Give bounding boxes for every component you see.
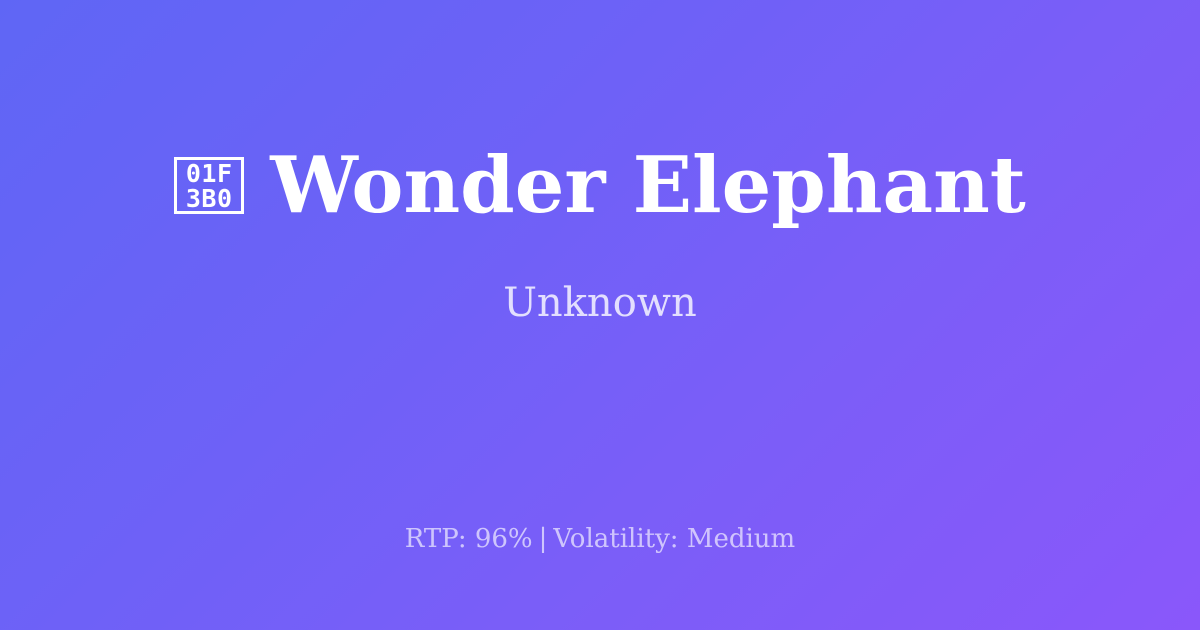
tofu-codepoint-bottom: 3B0: [186, 186, 233, 211]
title-block: 01F 3B0 Wonder Elephant Unknown: [0, 0, 1200, 470]
rtp-value: RTP: 96%: [405, 524, 533, 554]
stats-separator: |: [533, 524, 554, 554]
volatility-value: Volatility: Medium: [553, 524, 795, 554]
page-title: Wonder Elephant: [270, 145, 1026, 227]
game-stats: RTP: 96%|Volatility: Medium: [0, 524, 1200, 555]
title-line: 01F 3B0 Wonder Elephant: [174, 145, 1026, 227]
slot-machine-icon: 01F 3B0: [174, 157, 244, 214]
provider-label: Unknown: [503, 281, 697, 325]
game-preview-card: 01F 3B0 Wonder Elephant Unknown RTP: 96%…: [0, 0, 1200, 630]
tofu-codepoint-top: 01F: [186, 161, 233, 186]
